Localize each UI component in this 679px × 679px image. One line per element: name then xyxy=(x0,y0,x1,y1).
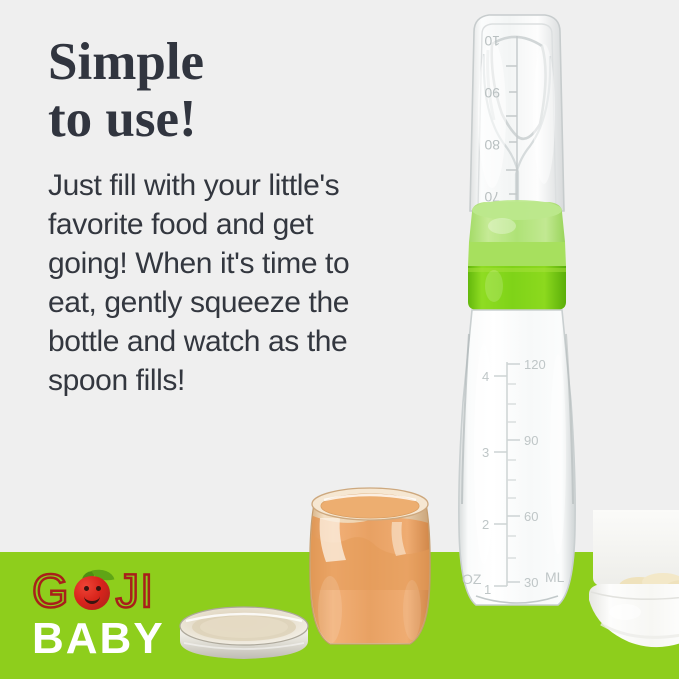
bottle-collar-ring xyxy=(468,266,566,310)
product-marketing-image: Simple to use! Just fill with your littl… xyxy=(0,0,679,679)
scale-ml-30: 30 xyxy=(524,575,538,590)
scale-label-oz: OZ xyxy=(462,571,482,587)
logo-wordmark-baby: BABY xyxy=(32,616,232,662)
scale-oz-4: 4 xyxy=(482,369,489,384)
berry-eye-right-icon xyxy=(96,586,101,591)
scale-ml-120: 120 xyxy=(524,357,546,372)
baby-food-jar xyxy=(300,470,440,655)
scale-oz-2: 2 xyxy=(482,517,489,532)
bowl-of-banana-slices xyxy=(583,508,679,658)
cap-marking-90: 90 xyxy=(484,85,500,101)
goji-berry-smiling-icon xyxy=(71,567,115,613)
scale-oz-1: 1 xyxy=(484,582,491,597)
bottle-body: 120 90 60 30 4 3 2 1 OZ ML xyxy=(459,310,575,605)
scale-ml-60: 60 xyxy=(524,509,538,524)
cap-marking-80: 80 xyxy=(484,137,500,153)
cap-marking-10: 10 xyxy=(484,33,500,49)
brand-logo: G JI BABY xyxy=(32,566,232,662)
logo-letter-g: G xyxy=(32,567,70,614)
body-paragraph: Just fill with your little's favorite fo… xyxy=(48,166,378,400)
logo-letters-ji: JI xyxy=(116,567,155,614)
bottle-cap: 10 90 80 70 xyxy=(470,15,564,211)
copy-block: Simple to use! Just fill with your littl… xyxy=(48,34,378,400)
berry-eye-left-icon xyxy=(84,586,89,591)
scale-label-ml: ML xyxy=(545,569,565,585)
page-title: Simple to use! xyxy=(48,34,378,148)
squeeze-feeding-bottle: 10 90 80 70 xyxy=(432,4,602,659)
logo-wordmark-goji: G JI xyxy=(32,566,232,614)
scale-ml-90: 90 xyxy=(524,433,538,448)
bottle-spoon-teat xyxy=(468,200,566,266)
scale-oz-3: 3 xyxy=(482,445,489,460)
